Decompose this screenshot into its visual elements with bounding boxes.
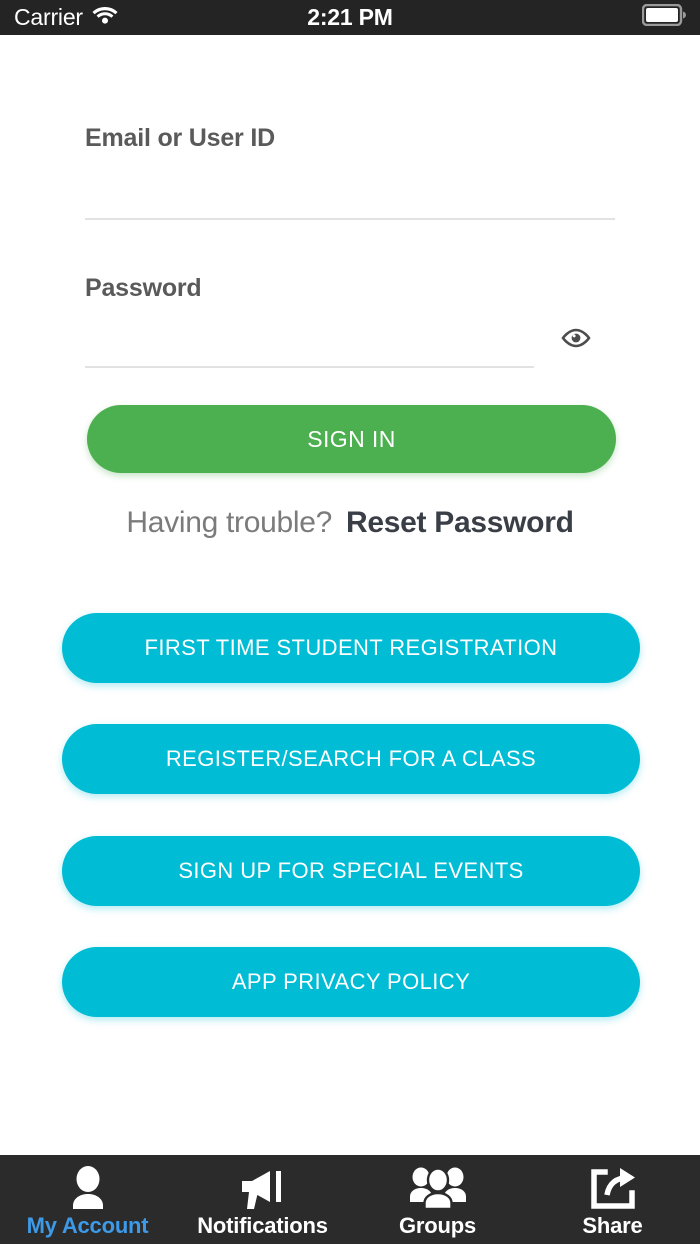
password-field-underline — [85, 366, 534, 368]
email-input[interactable] — [85, 176, 613, 216]
tab-label-my-account: My Account — [27, 1213, 149, 1239]
bottom-tab-bar: My Account Notifications — [0, 1155, 700, 1244]
eye-icon[interactable] — [557, 320, 595, 356]
login-screen: Carrier 2:21 PM Email or User — [0, 0, 700, 1244]
password-field-label: Password — [85, 274, 202, 303]
tab-notifications[interactable]: Notifications — [175, 1155, 350, 1244]
share-icon — [587, 1165, 639, 1211]
tab-label-share: Share — [582, 1213, 642, 1239]
person-icon — [62, 1165, 114, 1211]
tab-label-notifications: Notifications — [197, 1213, 328, 1239]
sign-in-button[interactable]: SIGN IN — [87, 405, 616, 473]
register-search-class-button[interactable]: REGISTER/SEARCH FOR A CLASS — [62, 724, 640, 794]
having-trouble-label: Having trouble? — [126, 506, 332, 540]
sign-up-special-events-button[interactable]: SIGN UP FOR SPECIAL EVENTS — [62, 836, 640, 906]
password-input[interactable] — [85, 322, 505, 362]
tab-my-account[interactable]: My Account — [0, 1155, 175, 1244]
megaphone-icon — [236, 1165, 290, 1211]
reset-password-link[interactable]: Reset Password — [346, 506, 574, 540]
battery-full-icon — [642, 4, 686, 31]
group-icon — [407, 1165, 469, 1211]
status-bar: Carrier 2:21 PM — [0, 0, 700, 35]
tab-share[interactable]: Share — [525, 1155, 700, 1244]
tab-label-groups: Groups — [399, 1213, 476, 1239]
app-privacy-policy-button[interactable]: APP PRIVACY POLICY — [62, 947, 640, 1017]
status-bar-right — [642, 0, 686, 35]
email-field-underline — [85, 218, 615, 220]
status-bar-clock: 2:21 PM — [0, 0, 700, 35]
tab-groups[interactable]: Groups — [350, 1155, 525, 1244]
reset-password-row: Having trouble? Reset Password — [0, 506, 700, 540]
first-time-student-registration-button[interactable]: FIRST TIME STUDENT REGISTRATION — [62, 613, 640, 683]
email-field-label: Email or User ID — [85, 124, 275, 153]
time-label: 2:21 PM — [307, 4, 393, 31]
